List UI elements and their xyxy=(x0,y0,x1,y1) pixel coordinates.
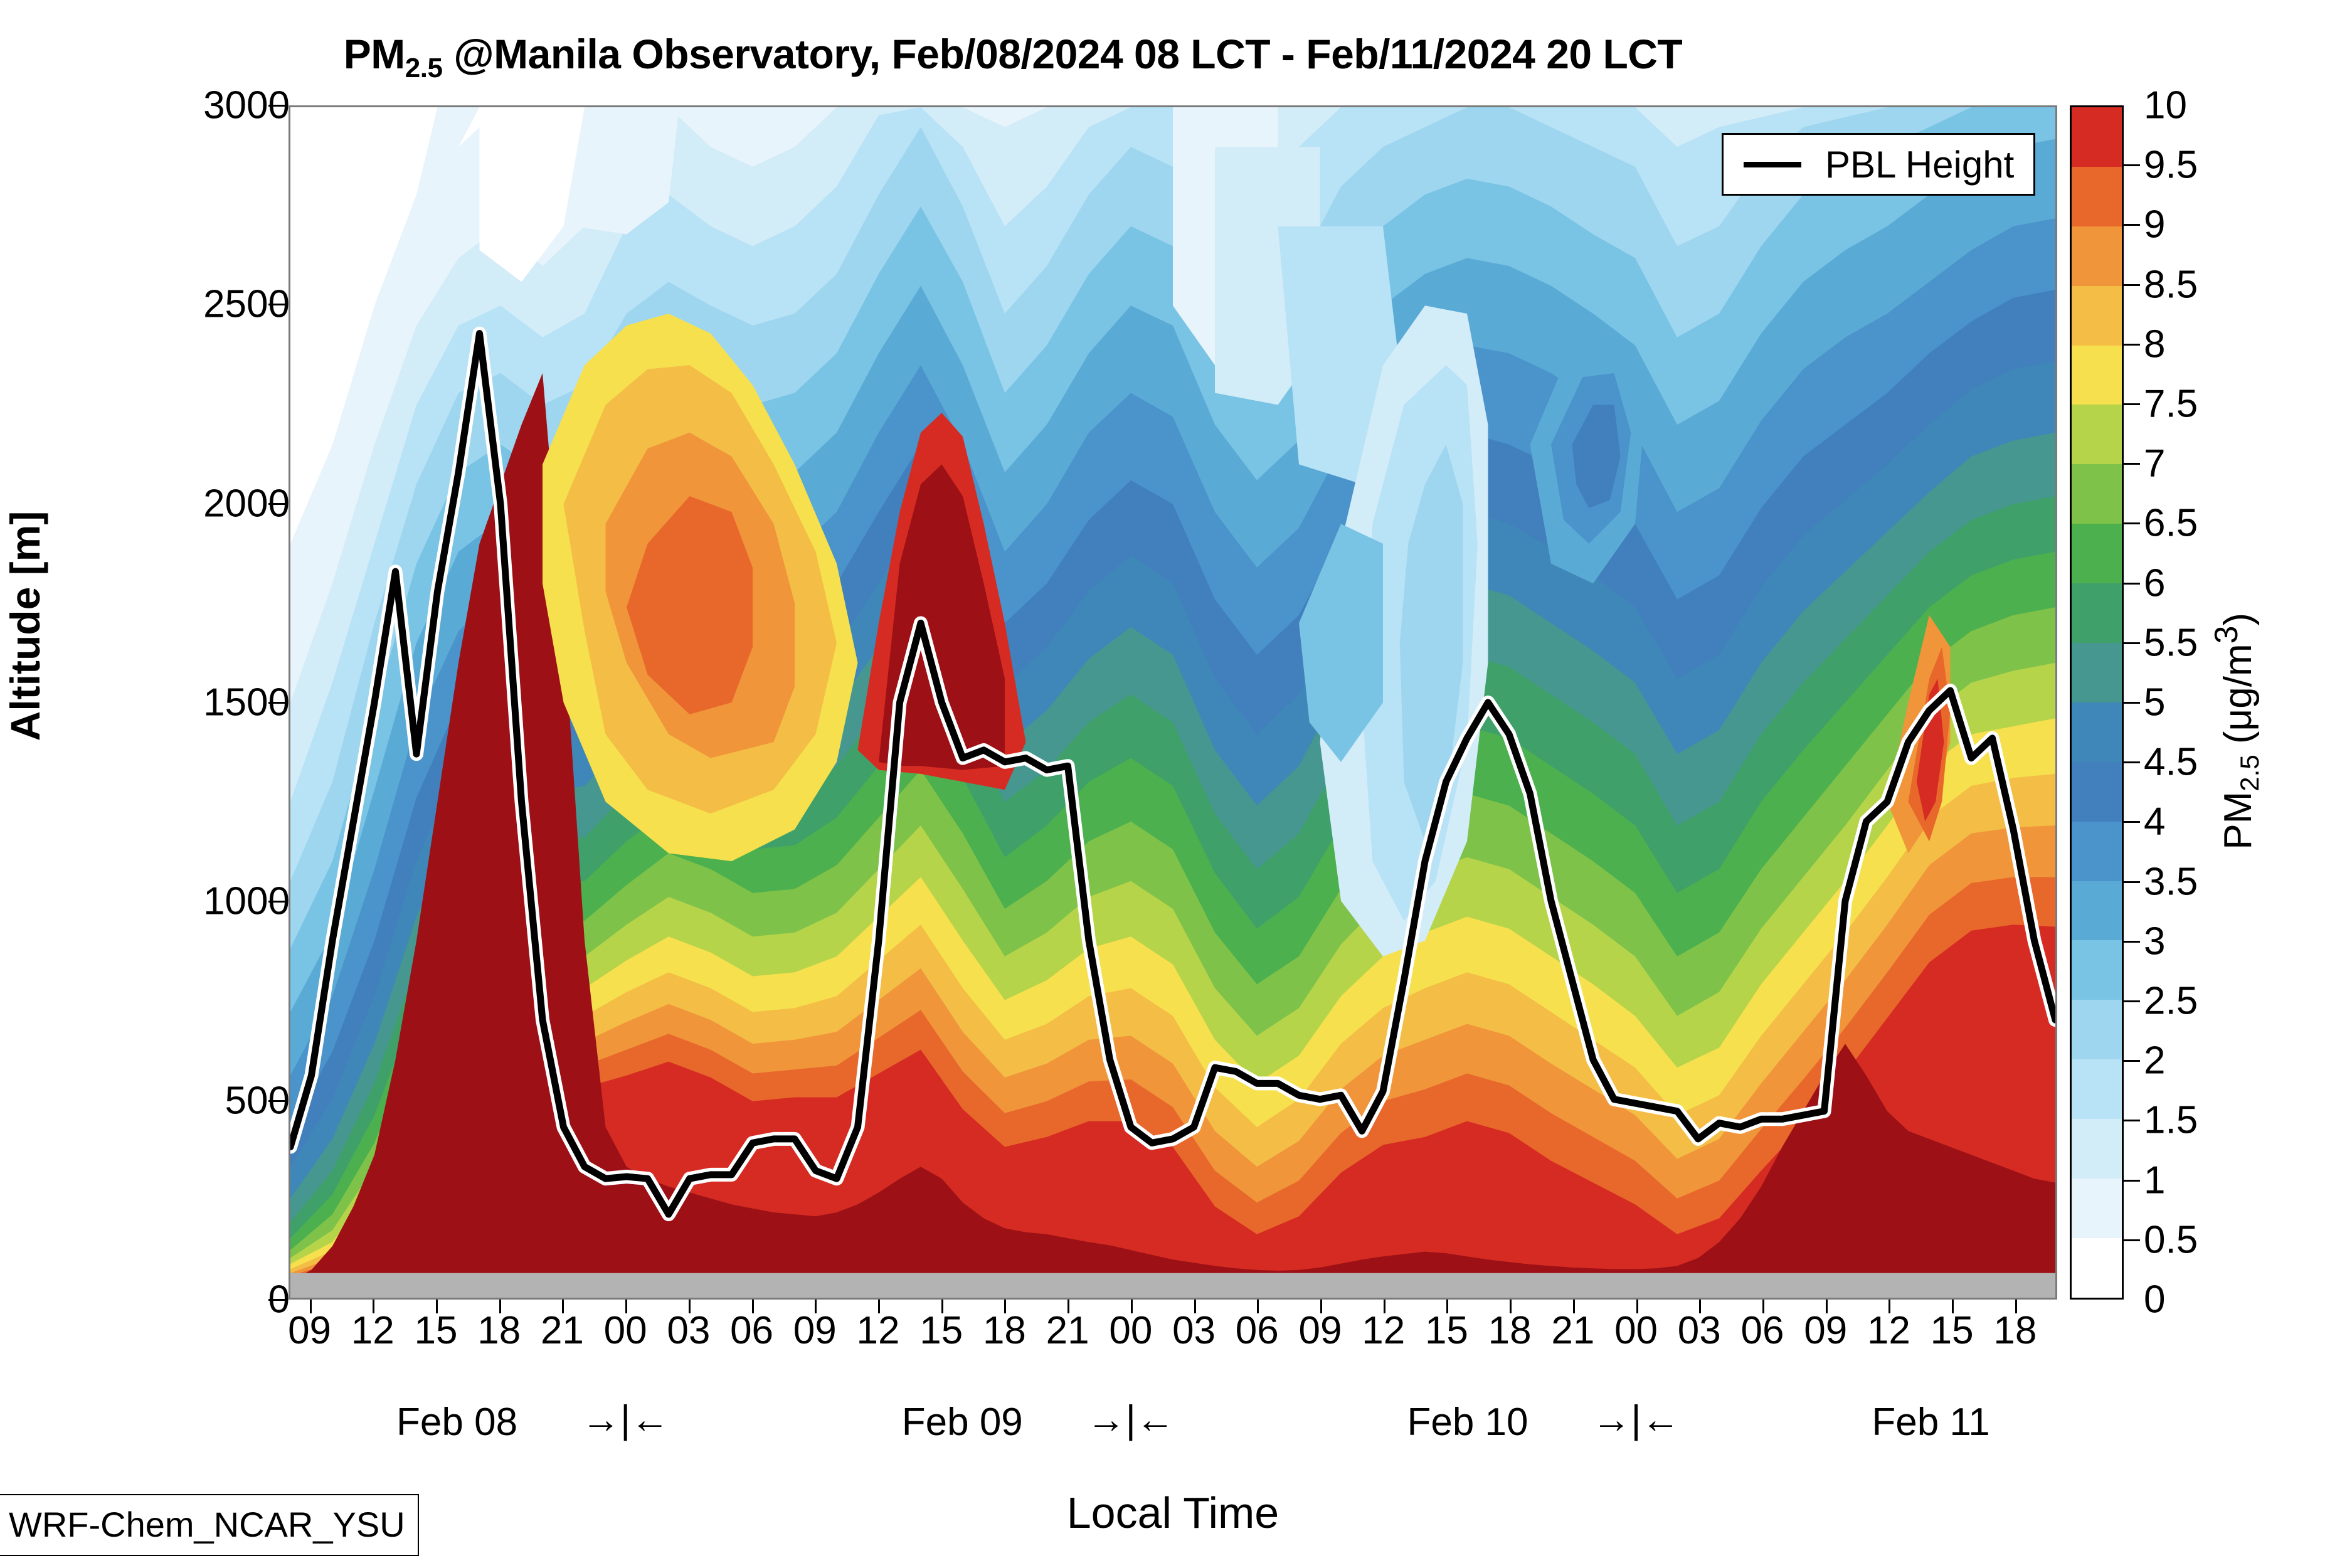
colorbar-tick-mark-5 xyxy=(2124,1000,2140,1002)
colorbar-label-prefix: PM xyxy=(2217,792,2260,850)
colorbar-band-17 xyxy=(2072,226,2122,286)
x-tick-label-1: 12 xyxy=(351,1308,395,1353)
x-tick-label-6: 03 xyxy=(667,1308,710,1353)
x-tick-label-20: 21 xyxy=(1551,1308,1594,1353)
x-tick-mark-15 xyxy=(1257,1300,1259,1313)
colorbar-label: PM2.5 (μg/m3) xyxy=(2207,355,2265,1108)
colorbar-label-subscript: 2.5 xyxy=(2235,755,2264,791)
colorbar-tick-label-12: 6 xyxy=(2144,561,2165,605)
x-tick-mark-22 xyxy=(1699,1300,1701,1313)
plot-area xyxy=(289,105,2057,1300)
x-tick-mark-19 xyxy=(1510,1300,1512,1313)
colorbar-tick-mark-15 xyxy=(2124,403,2140,405)
colorbar-tick-mark-6 xyxy=(2124,941,2140,943)
x-tick-mark-12 xyxy=(1067,1300,1069,1313)
x-tick-mark-24 xyxy=(1826,1300,1828,1313)
colorbar-tick-mark-13 xyxy=(2124,522,2140,524)
x-tick-label-22: 03 xyxy=(1678,1308,1721,1353)
colorbar-tick-mark-1 xyxy=(2124,1239,2140,1241)
y-tick-mark-1000 xyxy=(268,901,286,903)
colorbar-tick-label-10: 5 xyxy=(2144,681,2165,725)
colorbar-tick-mark-3 xyxy=(2124,1120,2140,1121)
colorbar-label-exponent: 3 xyxy=(2208,626,2244,644)
colorbar-tick-label-8: 4 xyxy=(2144,800,2165,844)
x-tick-mark-1 xyxy=(373,1300,374,1313)
colorbar-band-10 xyxy=(2072,643,2122,702)
x-tick-mark-21 xyxy=(1636,1300,1638,1313)
x-tick-label-4: 21 xyxy=(541,1308,584,1353)
x-tick-mark-14 xyxy=(1194,1300,1196,1313)
x-tick-mark-5 xyxy=(625,1300,627,1313)
legend-label-pbl-height: PBL Height xyxy=(1825,143,2014,186)
x-tick-label-9: 12 xyxy=(857,1308,900,1353)
y-tick-mark-500 xyxy=(268,1100,286,1102)
x-tick-label-8: 09 xyxy=(793,1308,837,1353)
colorbar-band-1 xyxy=(2072,1179,2122,1238)
x-tick-label-24: 09 xyxy=(1804,1308,1847,1353)
x-tick-mark-13 xyxy=(1131,1300,1133,1313)
title-subscript: 2.5 xyxy=(405,53,443,83)
title-prefix: PM xyxy=(344,31,405,77)
x-tick-mark-4 xyxy=(562,1300,564,1313)
colorbar-tick-mark-8 xyxy=(2124,821,2140,823)
x-tick-label-3: 18 xyxy=(477,1308,521,1353)
colorbar-band-18 xyxy=(2072,167,2122,226)
x-tick-label-12: 21 xyxy=(1046,1308,1089,1353)
x-tick-label-27: 18 xyxy=(1993,1308,2037,1353)
x-tick-label-7: 06 xyxy=(730,1308,773,1353)
y-tick-mark-0 xyxy=(268,1299,286,1301)
colorbar-band-5 xyxy=(2072,940,2122,1000)
colorbar-tick-mark-12 xyxy=(2124,583,2140,585)
colorbar-tick-label-5: 2.5 xyxy=(2144,979,2198,1024)
day-label-0: Feb 08 xyxy=(396,1400,517,1444)
colorbar-tick-label-20: 10 xyxy=(2144,83,2187,128)
colorbar-band-14 xyxy=(2072,405,2122,464)
x-tick-mark-10 xyxy=(941,1300,943,1313)
colorbar-tick-mark-11 xyxy=(2124,642,2140,644)
colorbar-tick-mark-2 xyxy=(2124,1180,2140,1182)
colorbar-tick-label-9: 4.5 xyxy=(2144,740,2198,785)
x-tick-mark-17 xyxy=(1384,1300,1385,1313)
colorbar-band-12 xyxy=(2072,524,2122,583)
colorbar-tick-mark-19 xyxy=(2124,164,2140,166)
x-tick-label-25: 12 xyxy=(1867,1308,1910,1353)
colorbar-band-16 xyxy=(2072,286,2122,346)
x-tick-label-14: 03 xyxy=(1172,1308,1216,1353)
colorbar-tick-mark-18 xyxy=(2124,224,2140,226)
colorbar-band-13 xyxy=(2072,464,2122,524)
colorbar-tick-label-6: 3 xyxy=(2144,919,2165,963)
x-tick-label-13: 00 xyxy=(1109,1308,1152,1353)
x-tick-mark-8 xyxy=(815,1300,817,1313)
x-axis-label: Local Time xyxy=(289,1488,2057,1538)
day-separator-1: →|← xyxy=(1087,1397,1175,1442)
title-rest: @Manila Observatory, Feb/08/2024 08 LCT … xyxy=(442,31,1682,77)
pbl-height-line-swatch xyxy=(1744,162,1801,167)
x-tick-label-0: 09 xyxy=(288,1308,331,1353)
x-tick-label-16: 09 xyxy=(1299,1308,1342,1353)
colorbar-tick-label-19: 9.5 xyxy=(2144,143,2198,188)
model-stamp: WRF-Chem_NCAR_YSU xyxy=(0,1494,419,1556)
colorbar-tick-mark-17 xyxy=(2124,284,2140,286)
colorbar-band-11 xyxy=(2072,583,2122,643)
y-tick-mark-2500 xyxy=(268,304,286,305)
colorbar-band-0 xyxy=(2072,1238,2122,1298)
colorbar-tick-mark-10 xyxy=(2124,702,2140,704)
colorbar-tick-label-17: 8.5 xyxy=(2144,262,2198,307)
x-tick-label-23: 06 xyxy=(1741,1308,1784,1353)
colorbar-tick-label-0: 0 xyxy=(2144,1278,2165,1322)
x-tick-label-5: 00 xyxy=(604,1308,647,1353)
x-tick-label-17: 12 xyxy=(1362,1308,1405,1353)
colorbar-tick-label-4: 2 xyxy=(2144,1039,2165,1083)
x-tick-label-10: 15 xyxy=(919,1308,963,1353)
x-tick-label-19: 18 xyxy=(1488,1308,1532,1353)
day-separator-2: →|← xyxy=(1592,1397,1680,1442)
contour-field xyxy=(290,107,2055,1298)
x-tick-mark-2 xyxy=(436,1300,438,1313)
x-tick-mark-11 xyxy=(1004,1300,1006,1313)
colorbar-tick-mark-16 xyxy=(2124,344,2140,346)
day-label-1: Feb 09 xyxy=(902,1400,1023,1444)
colorbar-band-15 xyxy=(2072,346,2122,405)
x-tick-mark-16 xyxy=(1320,1300,1322,1313)
y-axis-label: Altitude [m] xyxy=(1,250,49,1002)
colorbar-band-6 xyxy=(2072,881,2122,941)
colorbar-band-4 xyxy=(2072,1000,2122,1059)
x-tick-label-2: 15 xyxy=(415,1308,458,1353)
colorbar-label-units: (μg/m xyxy=(2217,644,2260,755)
x-tick-mark-18 xyxy=(1446,1300,1448,1313)
colorbar-tick-label-18: 9 xyxy=(2144,203,2165,247)
colorbar-tick-mark-9 xyxy=(2124,761,2140,763)
x-tick-label-21: 00 xyxy=(1614,1308,1658,1353)
colorbar-tick-label-11: 5.5 xyxy=(2144,620,2198,665)
day-label-2: Feb 10 xyxy=(1407,1400,1528,1444)
x-tick-label-18: 15 xyxy=(1425,1308,1468,1353)
colorbar-band-2 xyxy=(2072,1119,2122,1179)
colorbar-tick-mark-7 xyxy=(2124,881,2140,883)
colorbar-tick-label-1: 0.5 xyxy=(2144,1217,2198,1262)
colorbar-tick-mark-4 xyxy=(2124,1060,2140,1062)
x-tick-mark-3 xyxy=(499,1300,501,1313)
x-tick-mark-25 xyxy=(1888,1300,1890,1313)
colorbar-tick-label-16: 8 xyxy=(2144,322,2165,366)
x-tick-label-26: 15 xyxy=(1931,1308,1974,1353)
colorbar xyxy=(2070,105,2124,1300)
colorbar-tick-mark-14 xyxy=(2124,463,2140,465)
colorbar-band-9 xyxy=(2072,702,2122,762)
chart-title: PM2.5 @Manila Observatory, Feb/08/2024 0… xyxy=(0,30,2026,84)
colorbar-band-7 xyxy=(2072,822,2122,881)
day-label-3: Feb 11 xyxy=(1872,1400,1989,1444)
colorbar-band-3 xyxy=(2072,1059,2122,1119)
x-tick-mark-23 xyxy=(1762,1300,1764,1313)
y-tick-mark-2000 xyxy=(268,503,286,505)
terrain-band xyxy=(290,1273,2055,1298)
colorbar-tick-label-2: 1 xyxy=(2144,1158,2165,1202)
colorbar-tick-label-3: 1.5 xyxy=(2144,1098,2198,1143)
colorbar-tick-label-13: 6.5 xyxy=(2144,501,2198,546)
colorbar-label-close: ) xyxy=(2217,613,2260,626)
x-tick-mark-7 xyxy=(752,1300,754,1313)
x-tick-mark-20 xyxy=(1573,1300,1575,1313)
colorbar-tick-label-7: 3.5 xyxy=(2144,859,2198,904)
y-tick-mark-1500 xyxy=(268,702,286,704)
x-tick-label-15: 06 xyxy=(1236,1308,1279,1353)
colorbar-tick-label-15: 7.5 xyxy=(2144,382,2198,426)
legend-box: PBL Height xyxy=(1722,133,2035,196)
colorbar-band-19 xyxy=(2072,107,2122,167)
x-tick-mark-6 xyxy=(689,1300,691,1313)
x-tick-mark-0 xyxy=(310,1300,312,1313)
x-tick-mark-9 xyxy=(878,1300,880,1313)
day-separator-0: →|← xyxy=(581,1397,669,1442)
colorbar-tick-label-14: 7 xyxy=(2144,442,2165,486)
x-tick-mark-26 xyxy=(1952,1300,1954,1313)
x-tick-mark-27 xyxy=(2015,1300,2017,1313)
y-tick-mark-3000 xyxy=(268,105,286,107)
colorbar-band-8 xyxy=(2072,762,2122,822)
x-tick-label-11: 18 xyxy=(983,1308,1026,1353)
